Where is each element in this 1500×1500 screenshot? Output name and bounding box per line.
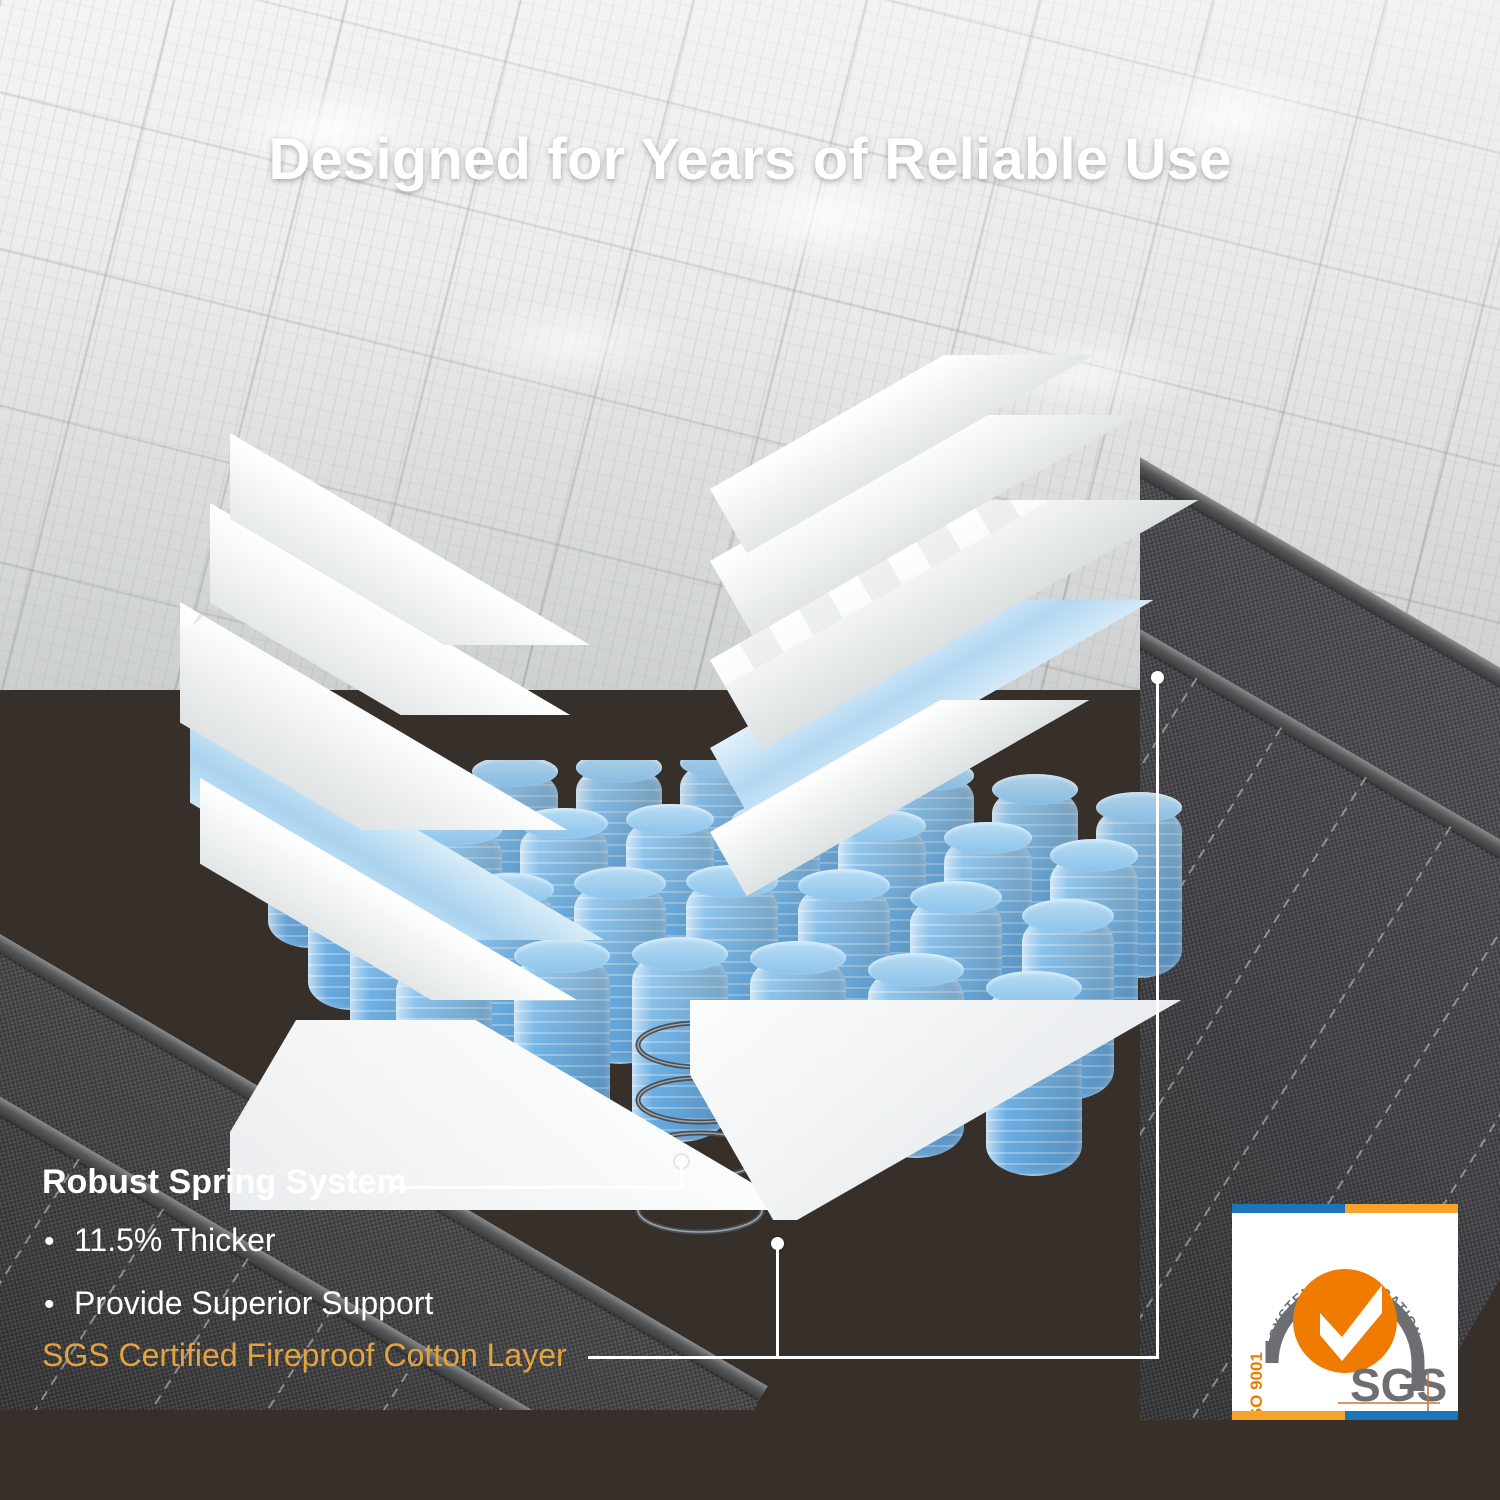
- callout-line-cotton-vertical-right: [1156, 677, 1159, 1357]
- sgs-certification-logo: SYSTEM CERTIFICATION ISO 9001 SGS: [1232, 1204, 1458, 1420]
- sgs-iso-label: ISO 9001: [1247, 1352, 1266, 1411]
- sgs-bar-top-blue: [1232, 1204, 1345, 1213]
- sgs-bar-top-orange: [1345, 1204, 1458, 1213]
- sgs-logo-svg: SYSTEM CERTIFICATION ISO 9001 SGS: [1232, 1213, 1458, 1411]
- list-item-label: 11.5% Thicker: [74, 1222, 276, 1259]
- list-item: • 11.5% Thicker: [44, 1222, 433, 1259]
- sgs-check-circle-icon: [1293, 1269, 1397, 1373]
- list-item-label: Provide Superior Support: [74, 1285, 433, 1322]
- callout-line-cotton-horizontal: [588, 1356, 1159, 1359]
- bullet-marker-icon: •: [44, 1290, 74, 1320]
- sgs-logo-artwork: SYSTEM CERTIFICATION ISO 9001 SGS: [1232, 1213, 1458, 1411]
- base-foam-slab-right: [690, 1000, 1250, 1220]
- sgs-bar-bottom-orange: [1232, 1411, 1345, 1420]
- callout-line-cotton-vertical-mid: [776, 1243, 779, 1357]
- list-item: • Provide Superior Support: [44, 1285, 433, 1322]
- callout-line-spring-horizontal: [392, 1186, 682, 1189]
- product-infographic: Designed for Years of Reliable Use Robus…: [0, 0, 1500, 1500]
- callout-label-spring: Robust Spring System: [42, 1163, 407, 1202]
- callout-label-cotton: SGS Certified Fireproof Cotton Layer: [42, 1337, 567, 1374]
- cover-cap-right: [710, 355, 1340, 553]
- sgs-bar-bottom: [1232, 1411, 1458, 1420]
- callout-line-spring-vertical: [680, 1161, 683, 1189]
- spring-benefit-list: • 11.5% Thicker • Provide Superior Suppo…: [44, 1222, 433, 1348]
- base-foam-right-clip: [690, 1000, 1250, 1220]
- page-title: Designed for Years of Reliable Use: [0, 126, 1500, 193]
- cover-cap-right-clip: [700, 355, 1340, 675]
- sgs-bar-top: [1232, 1204, 1458, 1213]
- bullet-marker-icon: •: [44, 1227, 74, 1257]
- sgs-bar-bottom-blue: [1345, 1411, 1458, 1420]
